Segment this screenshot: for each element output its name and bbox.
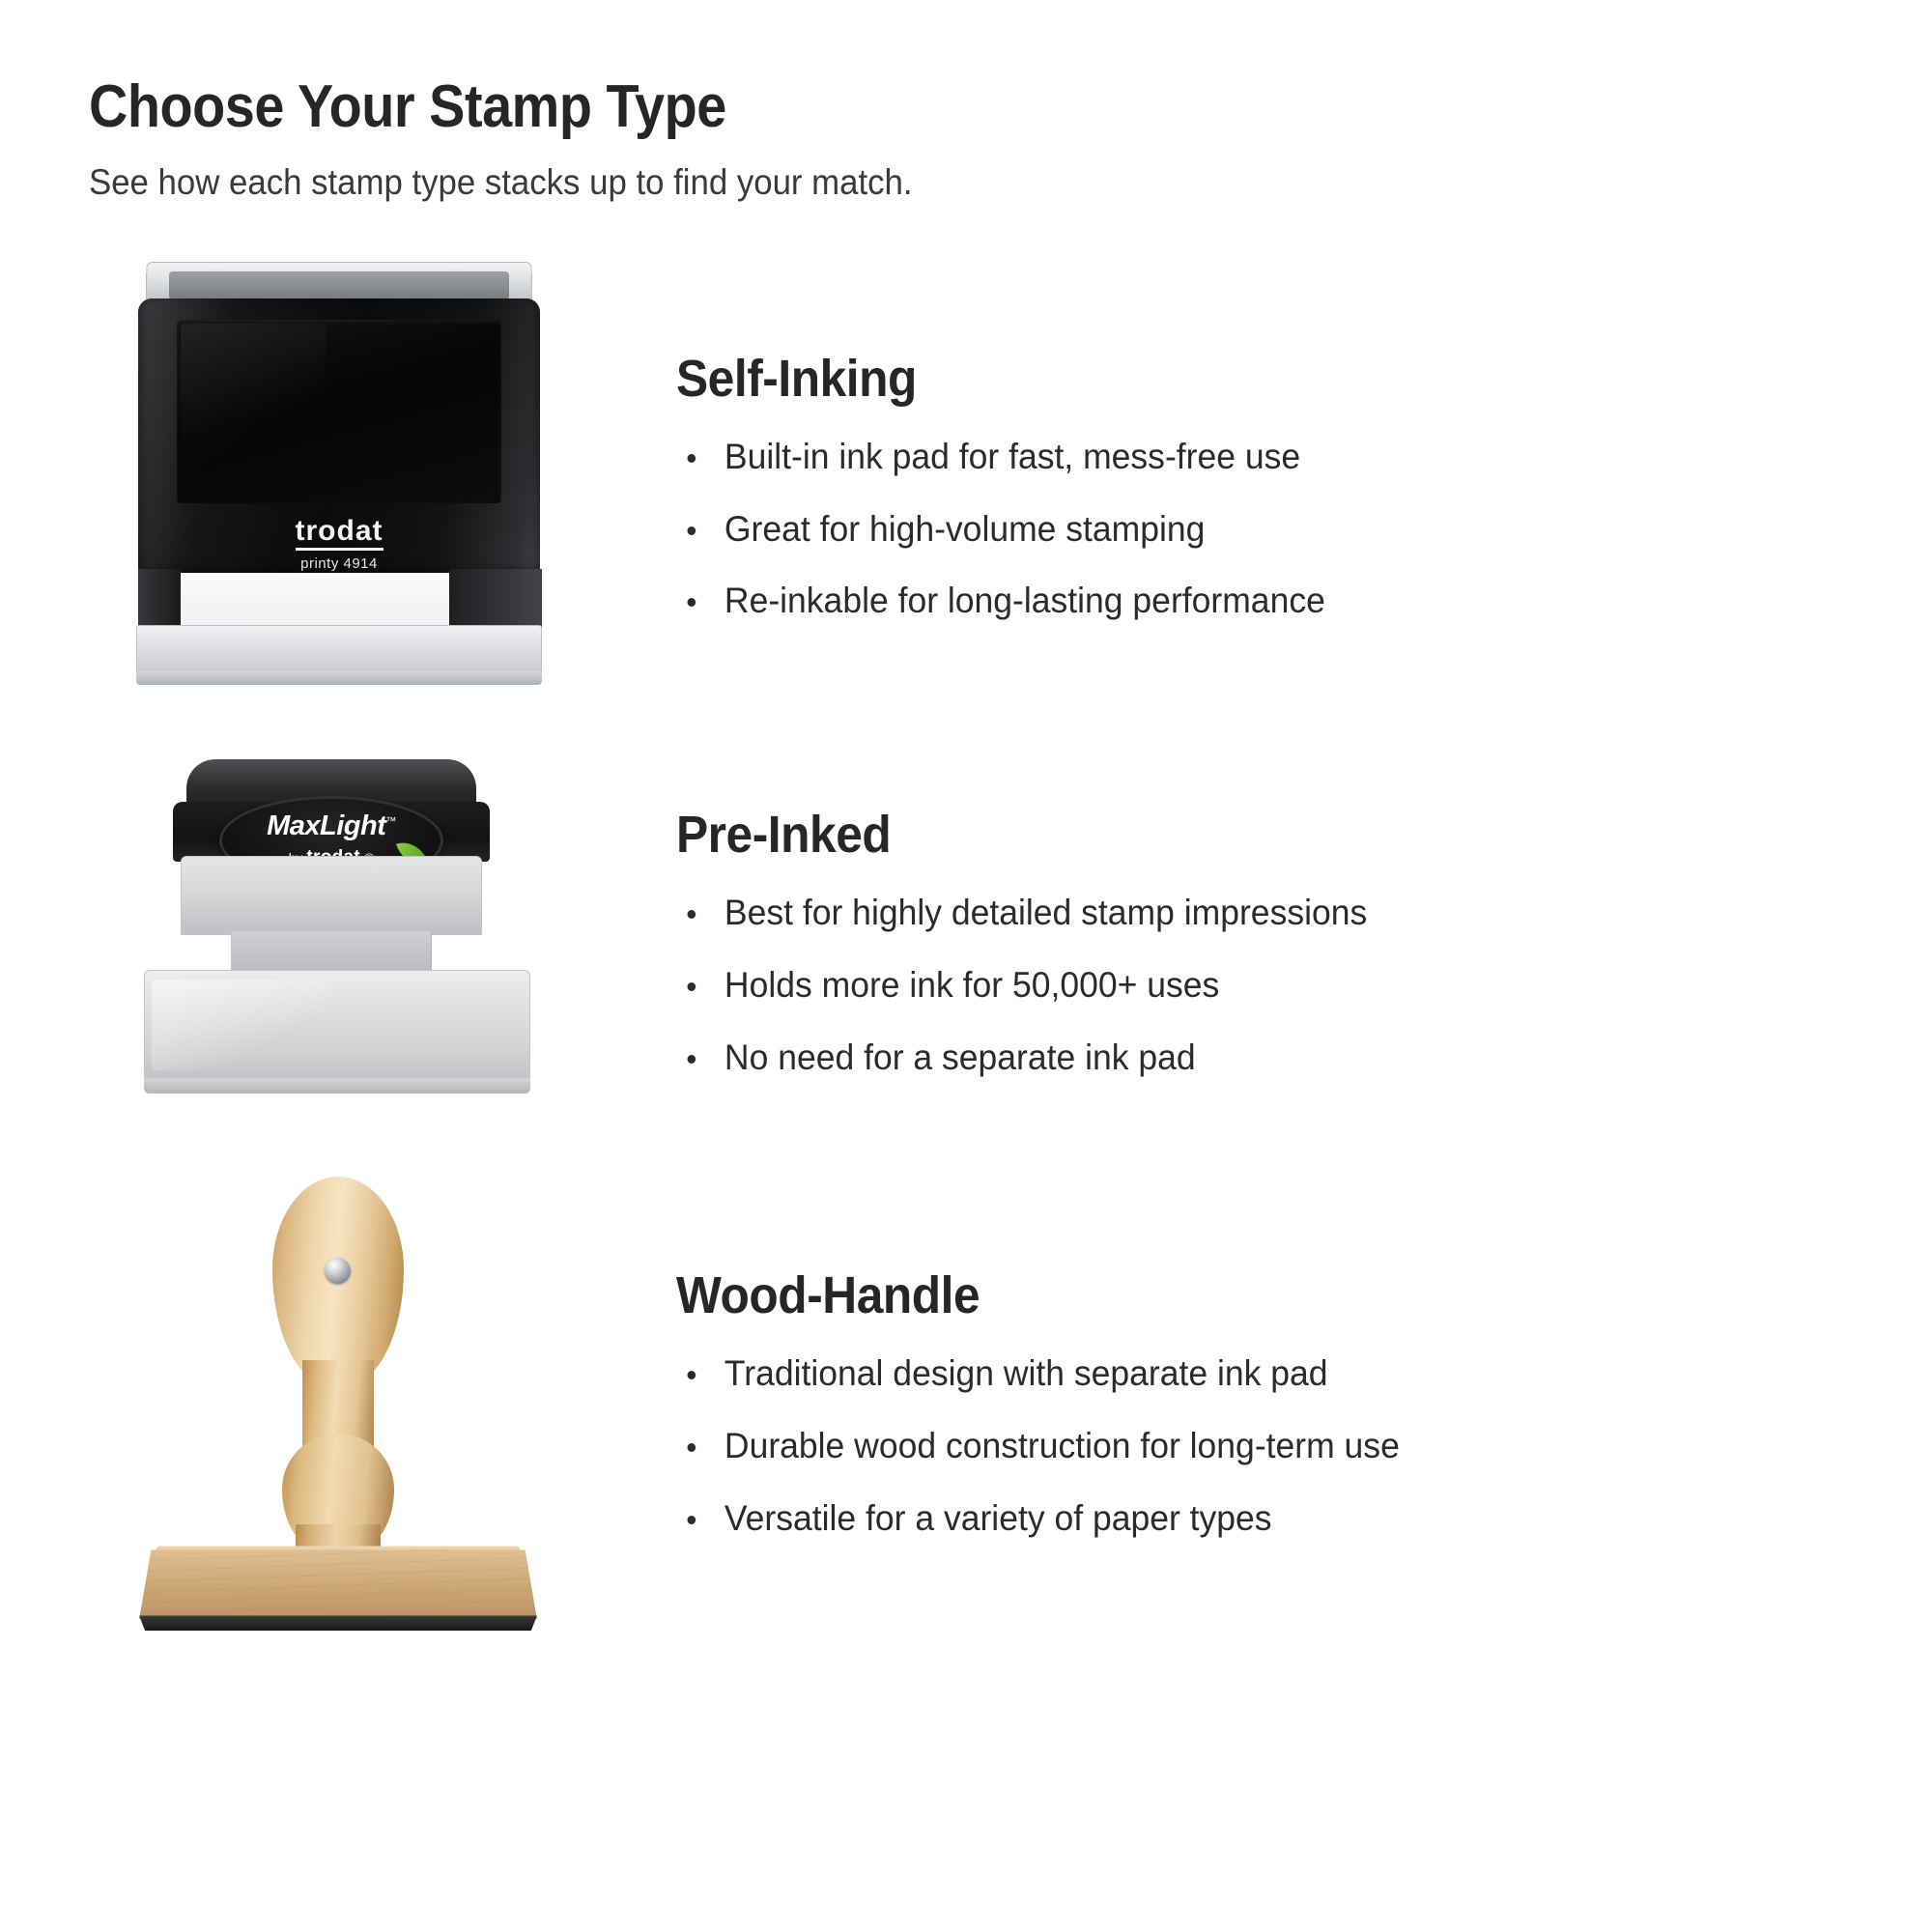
feature-list-wood-handle: Traditional design with separate ink pad…	[676, 1350, 1845, 1542]
stamp-type-heading-wood-handle: Wood-Handle	[676, 1265, 1751, 1325]
stamp-type-row-pre-inked: MaxLight™ by trodat ®	[0, 759, 1932, 1126]
stamp-type-comparison-page: Choose Your Stamp Type See how each stam…	[0, 0, 1932, 1932]
feature-item: Built-in ink pad for fast, mess-free use	[676, 434, 1799, 481]
feature-item: Great for high-volume stamping	[676, 506, 1799, 554]
page-subtitle: See how each stamp type stacks up to fin…	[89, 161, 1822, 204]
feature-list-pre-inked: Best for highly detailed stamp impressio…	[676, 890, 1845, 1081]
feature-item: Durable wood construction for long-term …	[676, 1423, 1799, 1470]
feature-item: Best for highly detailed stamp impressio…	[676, 890, 1799, 937]
feature-item: No need for a separate ink pad	[676, 1035, 1799, 1082]
feature-item: Holds more ink for 50,000+ uses	[676, 962, 1799, 1009]
stamp-type-heading-self-inking: Self-Inking	[676, 349, 1751, 409]
page-header: Choose Your Stamp Type See how each stam…	[0, 75, 1932, 204]
feature-list-self-inking: Built-in ink pad for fast, mess-free use…	[676, 434, 1845, 625]
rubber-die	[137, 1615, 539, 1631]
stamp-base-lip	[136, 671, 542, 685]
maxlight-shoulder	[181, 856, 482, 935]
stamp-type-heading-pre-inked: Pre-Inked	[676, 805, 1751, 865]
stamp-body-highlight	[181, 324, 326, 497]
pre-inked-text: Pre-Inked Best for highly detailed stamp…	[676, 805, 1932, 1081]
stamp-type-row-self-inking: trodat printy 4914 Self-Inking Built-in …	[0, 262, 1932, 711]
feature-item: Versatile for a variety of paper types	[676, 1495, 1799, 1543]
pre-inked-stamp-image: MaxLight™ by trodat ®	[130, 759, 546, 1126]
maxlight-logo-text: MaxLight	[267, 810, 385, 841]
self-inking-text: Self-Inking Built-in ink pad for fast, m…	[676, 349, 1932, 625]
self-inking-figure: trodat printy 4914	[0, 262, 676, 711]
wood-handle-figure	[0, 1177, 676, 1631]
wood-handle-stamp-image	[126, 1177, 551, 1631]
maxlight-foot	[144, 1078, 530, 1094]
feature-item: Traditional design with separate ink pad	[676, 1350, 1799, 1398]
stamp-clear-base	[136, 625, 542, 677]
trodat-brand-label: trodat	[296, 517, 384, 551]
page-title: Choose Your Stamp Type	[89, 75, 1747, 138]
trademark-icon: ™	[385, 816, 396, 828]
wood-block-grain	[139, 1549, 537, 1619]
stamp-type-list: trodat printy 4914 Self-Inking Built-in …	[0, 262, 1932, 1631]
stamp-type-row-wood-handle: Wood-Handle Traditional design with sepa…	[0, 1177, 1932, 1631]
self-inking-stamp-image: trodat printy 4914	[130, 262, 546, 711]
maxlight-base-highlight	[152, 980, 326, 1070]
pre-inked-figure: MaxLight™ by trodat ®	[0, 759, 676, 1126]
wood-handle-text: Wood-Handle Traditional design with sepa…	[676, 1265, 1932, 1542]
stamp-body: trodat printy 4914	[138, 298, 540, 579]
stamp-lid-inner	[169, 271, 509, 300]
trodat-model-label: printy 4914	[300, 555, 378, 572]
feature-item: Re-inkable for long-lasting performance	[676, 578, 1799, 625]
stamp-inner-gap	[173, 573, 453, 631]
